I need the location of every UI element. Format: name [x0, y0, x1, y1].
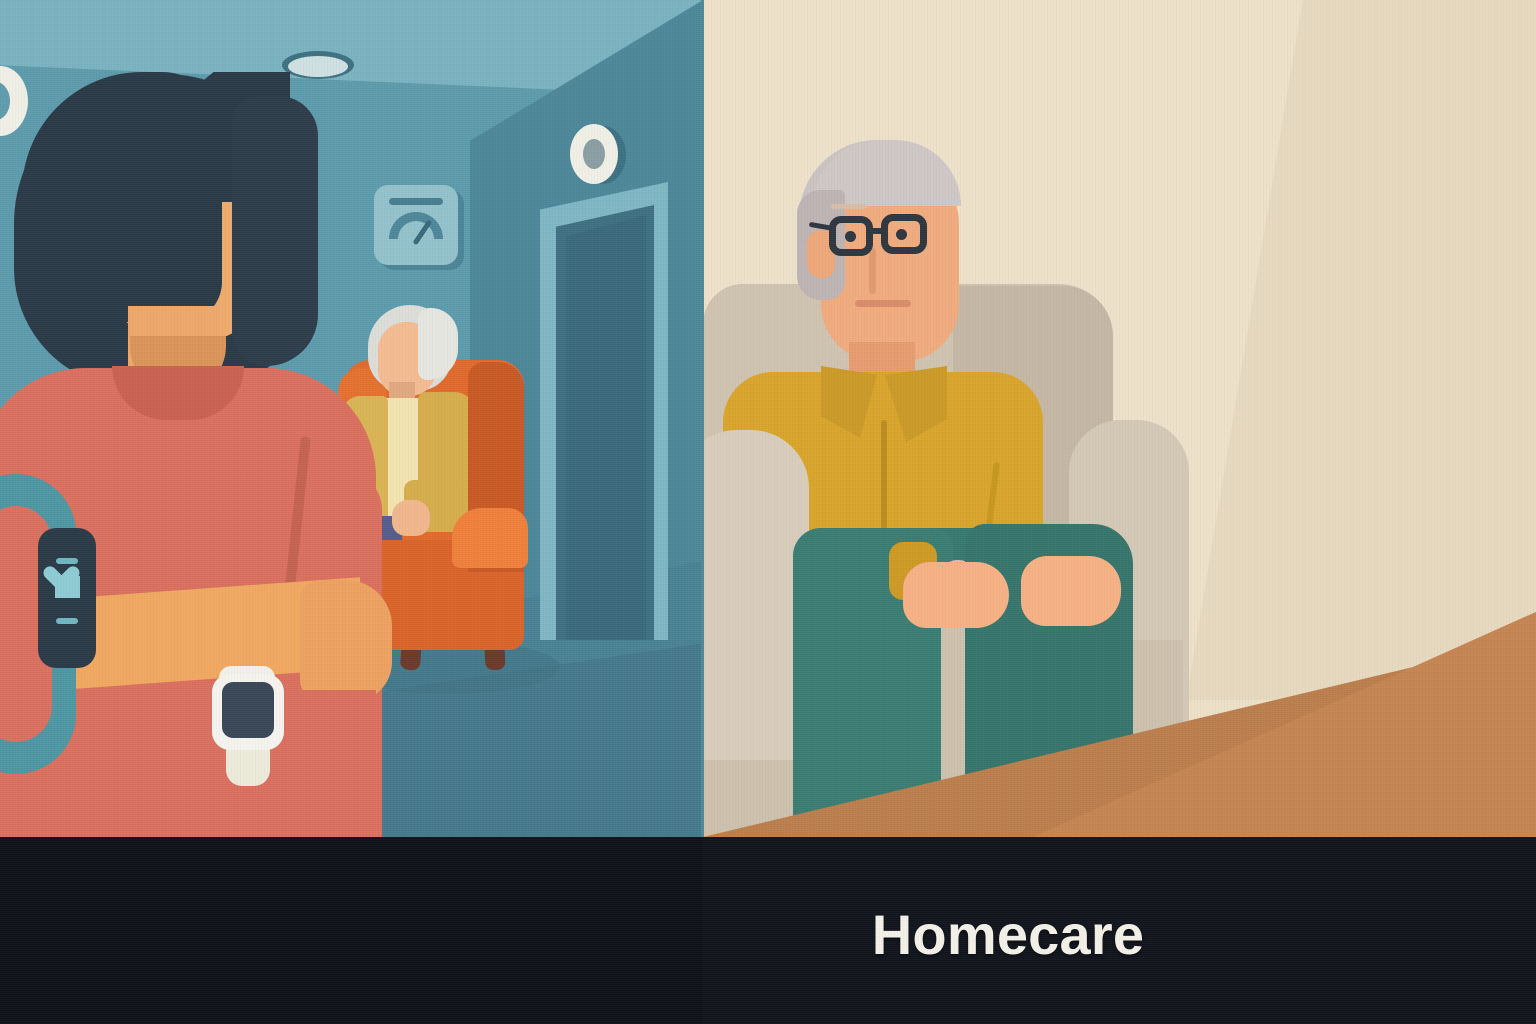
- caregiver-hair-right: [232, 96, 318, 366]
- ceiling-light-lens: [288, 56, 348, 77]
- heart-icon: [55, 576, 80, 598]
- elderly-man-hand-right: [1021, 556, 1121, 626]
- illustration-canvas: Homecare: [0, 0, 1536, 1024]
- smartwatch-screen: [222, 682, 274, 738]
- caregiver-hand: [300, 580, 392, 702]
- armchair-arm-right: [452, 508, 528, 568]
- panel-divider: [701, 0, 704, 837]
- motion-sensor-lens: [583, 139, 605, 169]
- elderly-man-eye-left: [845, 231, 856, 242]
- fitness-band-face: [38, 528, 96, 668]
- fitness-band-bar-bottom: [56, 618, 78, 624]
- elderly-man-brow: [831, 204, 867, 209]
- page-title: Homecare: [0, 895, 1536, 975]
- elderly-man-eye-right: [896, 229, 907, 240]
- elderly-man-mouth: [855, 300, 911, 307]
- gauge-display-bar: [389, 198, 443, 205]
- doorway-opening: [566, 215, 646, 640]
- elderly-man-nose: [869, 248, 876, 294]
- panel-caregiver-smart-home: [0, 0, 703, 837]
- fitness-band-bar-top: [56, 558, 78, 564]
- elderly-woman-hand: [392, 500, 430, 536]
- panel-telehealth-consultation: [703, 0, 1536, 837]
- elderly-man-hand-left: [903, 562, 1009, 628]
